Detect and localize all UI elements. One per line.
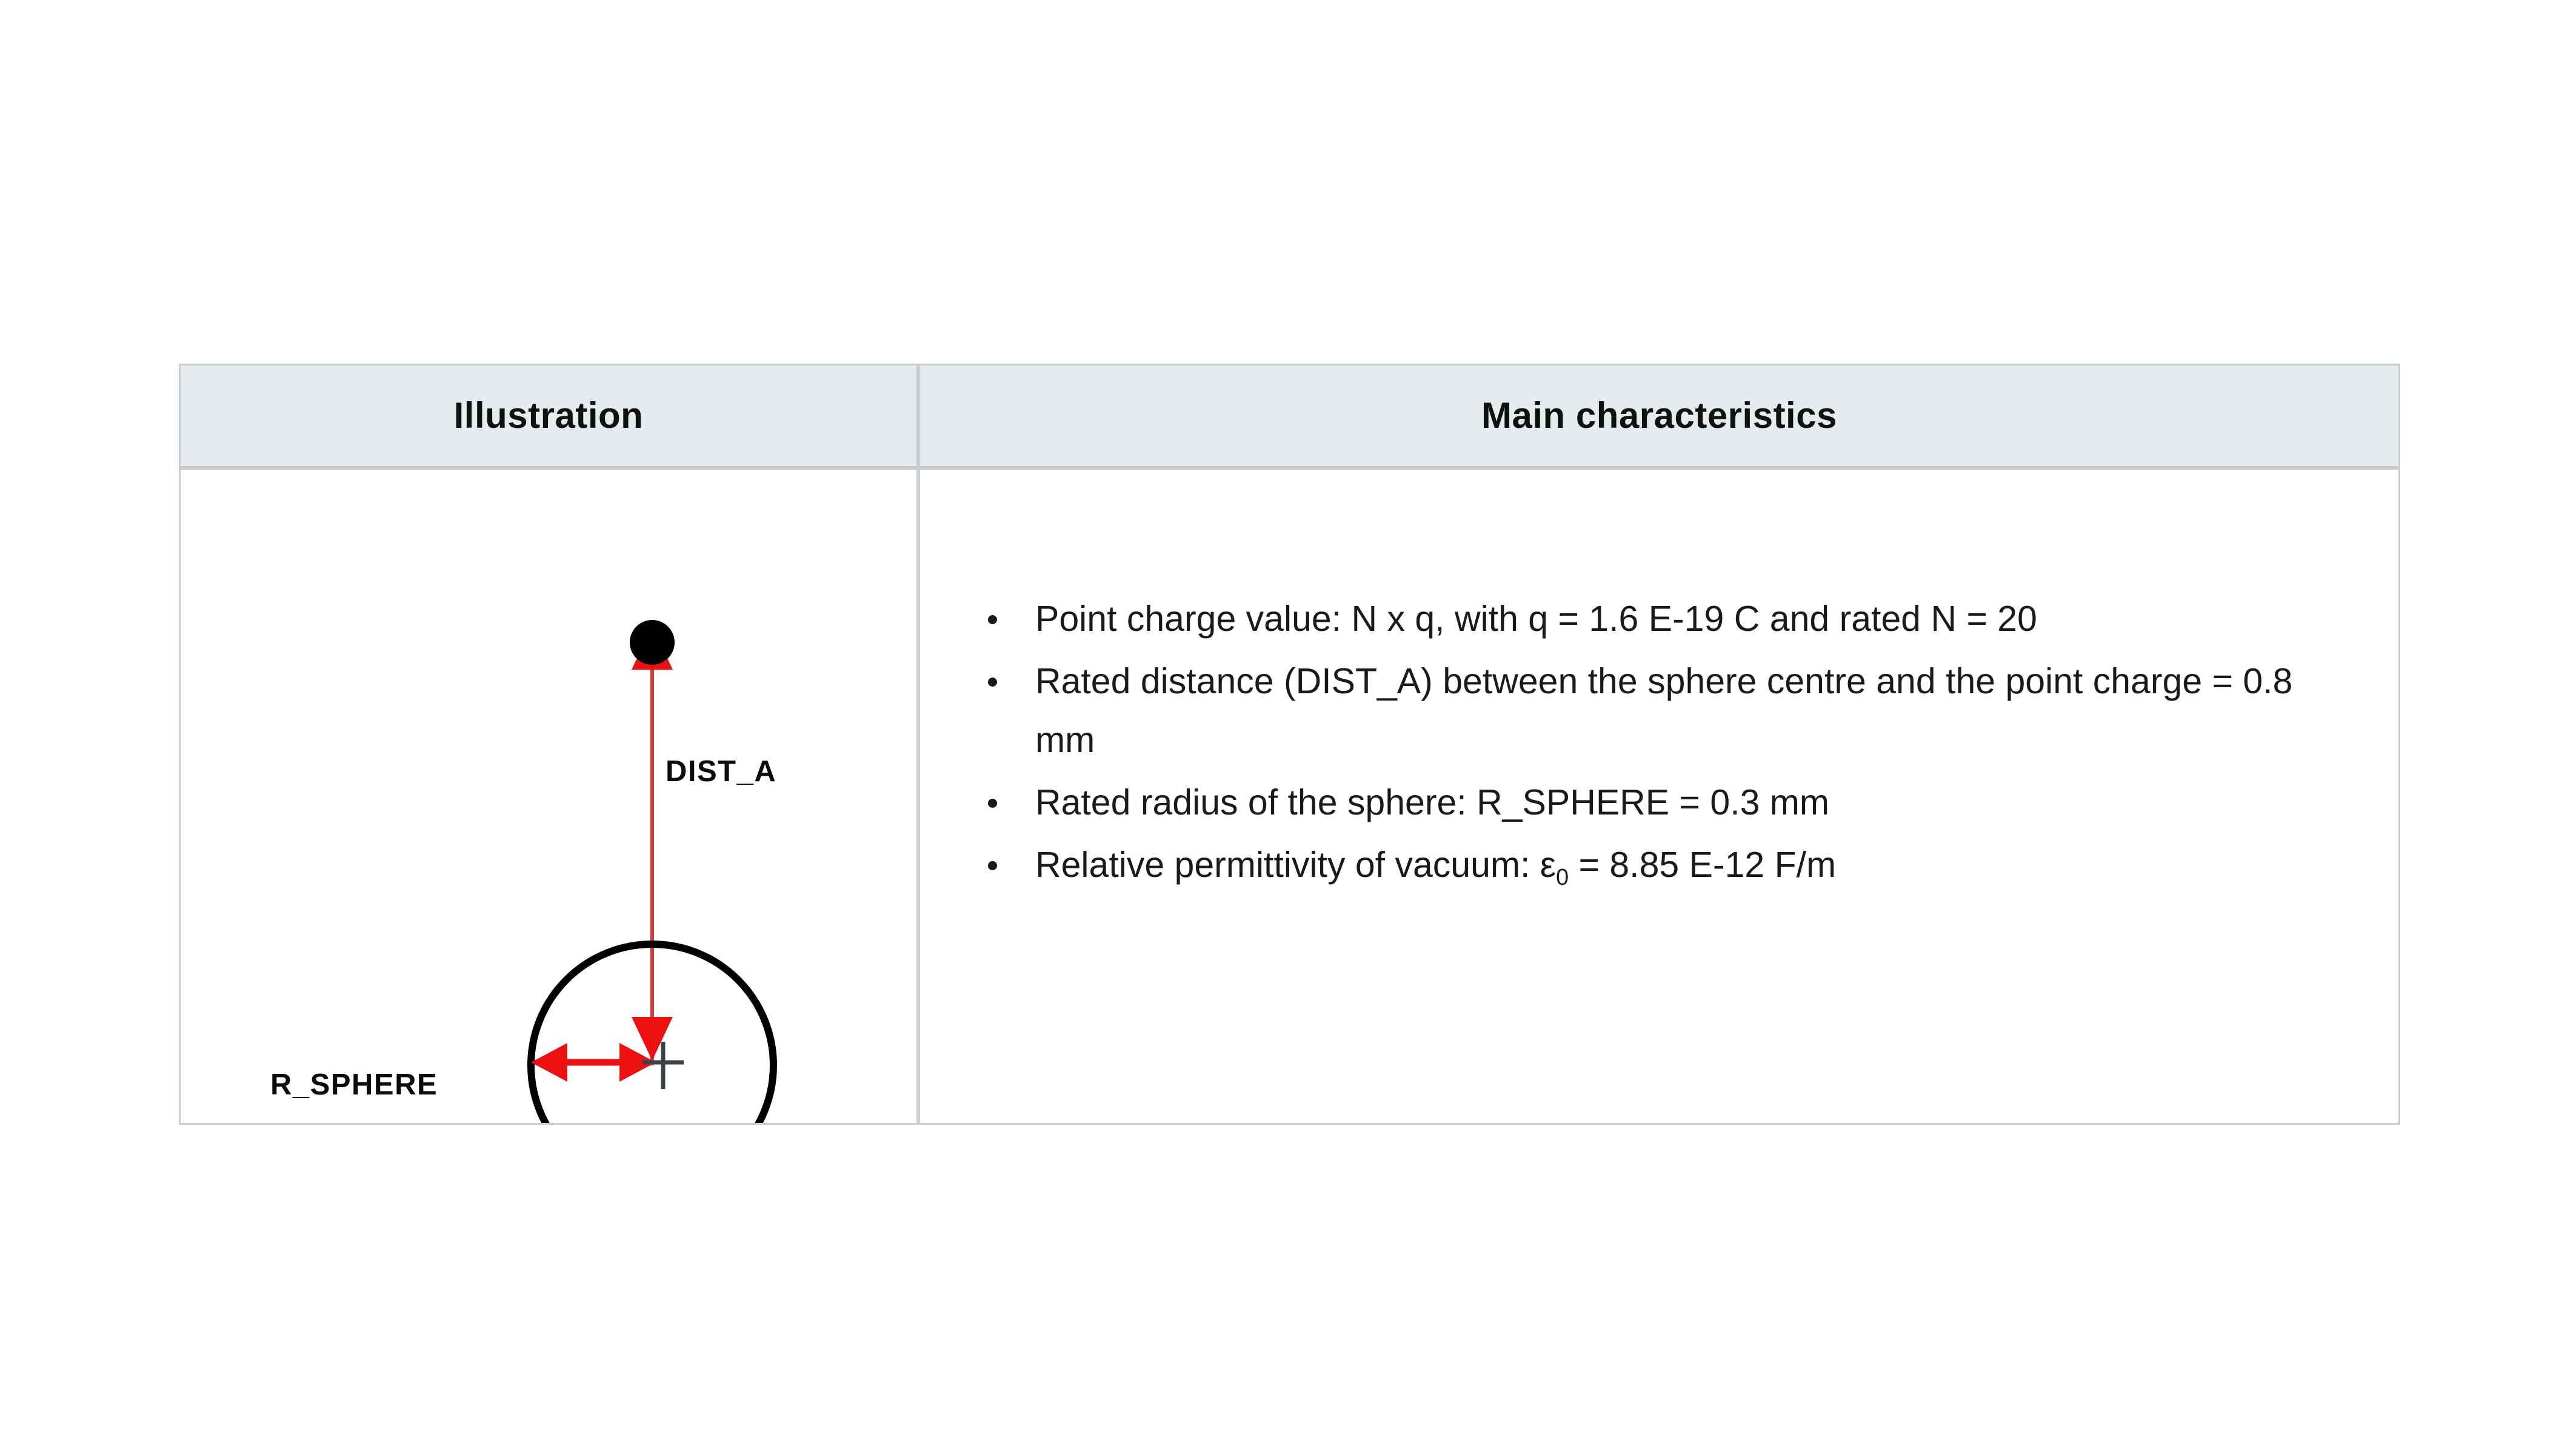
bullet-text-permittivity-suffix: = 8.85 E-12 F/m: [1569, 845, 1836, 885]
bullet-text-permittivity-prefix: Relative permittivity of vacuum: ε: [1035, 845, 1556, 885]
dist-a-label: DIST_A: [666, 754, 776, 788]
point-charge-sphere-diagram: [181, 470, 915, 1123]
table-header: Illustration Main characteristics: [179, 364, 2400, 468]
bullet-text-rated-radius: Rated radius of the sphere: R_SPHERE = 0…: [1035, 782, 1829, 822]
list-item: Rated radius of the sphere: R_SPHERE = 0…: [981, 773, 2307, 832]
column-header-illustration: Illustration: [179, 364, 918, 468]
document-page: Illustration Main characteristics: [0, 0, 2576, 1449]
column-header-characteristics: Main characteristics: [918, 364, 2400, 468]
characteristics-cell: Point charge value: N x q, with q = 1.6 …: [918, 468, 2400, 1125]
point-charge-dot: [630, 620, 675, 665]
characteristics-list: Point charge value: N x q, with q = 1.6 …: [920, 470, 2398, 894]
bullet-text-rated-distance: Rated distance (DIST_A) between the sphe…: [1035, 661, 2292, 760]
r-sphere-label: R_SPHERE: [270, 1068, 438, 1102]
list-item: Point charge value: N x q, with q = 1.6 …: [981, 590, 2307, 648]
illustration-cell: DIST_A R_SPHERE: [179, 468, 918, 1125]
table-row: DIST_A R_SPHERE Point charge value: N x …: [179, 468, 2400, 1125]
list-item: Rated distance (DIST_A) between the sphe…: [981, 652, 2307, 770]
column-header-characteristics-label: Main characteristics: [920, 396, 2398, 436]
bullet-text-point-charge-value: Point charge value: N x q, with q = 1.6 …: [1035, 599, 2037, 639]
column-header-illustration-label: Illustration: [181, 396, 916, 436]
r-sphere-arrowhead-left: [531, 1043, 567, 1082]
table-header-row: Illustration Main characteristics: [179, 364, 2400, 468]
illustration-canvas: DIST_A R_SPHERE: [181, 470, 915, 1123]
bullet-text-permittivity-subscript: 0: [1556, 864, 1569, 890]
list-item: Relative permittivity of vacuum: ε0 = 8.…: [981, 836, 2307, 894]
specification-table: Illustration Main characteristics: [179, 364, 2400, 1125]
table-body: DIST_A R_SPHERE Point charge value: N x …: [179, 468, 2400, 1125]
